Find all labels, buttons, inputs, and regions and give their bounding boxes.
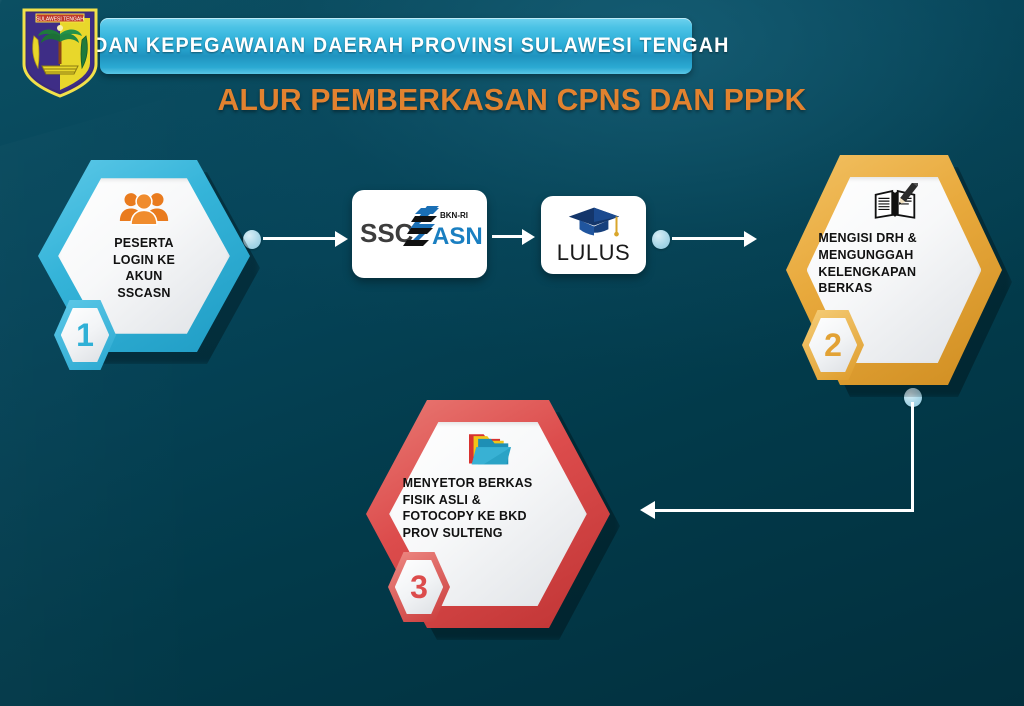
- arrow-head-right-icon: [522, 229, 535, 245]
- lulus-label: LULUS: [557, 240, 630, 266]
- step-3[interactable]: MENYETOR BERKAS FISIK ASLI & FOTOCOPY KE…: [366, 400, 610, 628]
- header-banner: BADAN KEPEGAWAIAN DAERAH PROVINSI SULAWE…: [100, 18, 692, 74]
- connector-sscasn-to-lulus: [492, 226, 540, 248]
- step-1-badge: 1: [54, 300, 116, 370]
- step-1-number: 1: [54, 300, 116, 370]
- graduation-cap-icon: [565, 204, 623, 240]
- arrow-head-left-icon: [640, 501, 655, 519]
- sulawesi-tengah-coat-of-arms-icon: SULAWESI TENGAH: [18, 6, 102, 98]
- infographic-canvas: SULAWESI TENGAH BADAN KEPEGAWAIAN DAERAH…: [0, 0, 1024, 706]
- arrow-head-right-icon: [744, 231, 757, 247]
- step-2-badge: 2: [802, 310, 864, 380]
- step-3-label: MENYETOR BERKAS FISIK ASLI & FOTOCOPY KE…: [403, 475, 533, 542]
- page-title: ALUR PEMBERKASAN CPNS DAN PPPK: [15, 82, 1008, 118]
- connector-lulus-to-step2: [652, 226, 762, 252]
- connector-step2-to-step3: [630, 388, 930, 523]
- folder-stack-icon: [465, 425, 515, 471]
- step-2-number: 2: [802, 310, 864, 380]
- step-1-label: PESERTA LOGIN KE AKUN SSCASN: [113, 235, 175, 302]
- svg-text:ASN: ASN: [432, 223, 483, 250]
- step-2[interactable]: MENGISI DRH & MENGUNGGAH KELENGKAPAN BER…: [786, 155, 1002, 385]
- lulus-card[interactable]: LULUS: [541, 196, 646, 274]
- step-3-number: 3: [388, 552, 450, 622]
- connector-dot: [652, 230, 670, 249]
- svg-text:BKN-RI: BKN-RI: [440, 211, 468, 220]
- connector-step1-to-sscasn: [243, 226, 353, 252]
- sscasn-logo: SSC BKN-RI ASN: [352, 190, 487, 278]
- step-1[interactable]: PESERTA LOGIN KE AKUN SSCASN 1: [38, 160, 250, 352]
- sscasn-logo-card[interactable]: SSC BKN-RI ASN: [352, 190, 487, 278]
- step-2-label: MENGISI DRH & MENGUNGGAH KELENGKAPAN BER…: [818, 230, 916, 297]
- step-3-badge: 3: [388, 552, 450, 622]
- header-banner-text: BADAN KEPEGAWAIAN DAERAH PROVINSI SULAWE…: [62, 34, 729, 58]
- svg-text:SULAWESI TENGAH: SULAWESI TENGAH: [36, 17, 84, 23]
- book-pencil-icon: [872, 180, 918, 226]
- people-group-icon: [118, 185, 170, 231]
- arrow-head-right-icon: [335, 231, 348, 247]
